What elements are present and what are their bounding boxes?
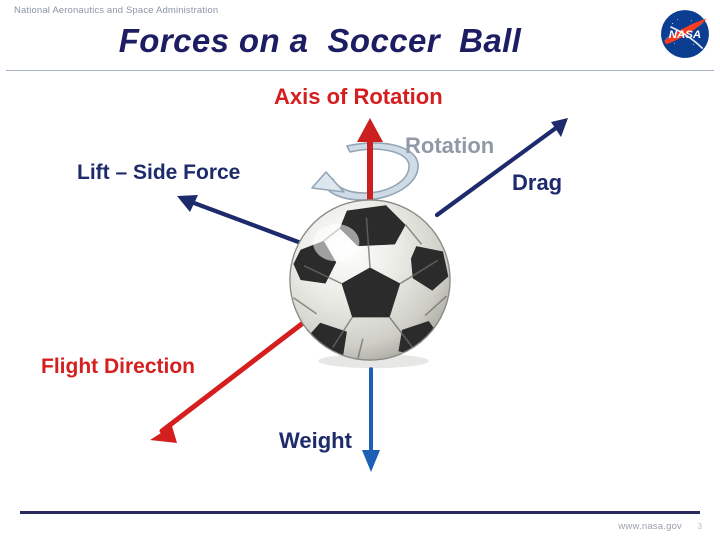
label-weight: Weight [279,430,352,452]
slide-canvas: National Aeronautics and Space Administr… [0,0,720,539]
footer-url[interactable]: www.nasa.gov [618,521,682,532]
header-divider [6,70,714,71]
label-flight-direction: Flight Direction [41,356,195,377]
weight-arrow [362,369,380,472]
forces-diagram: Axis of Rotation Rotation Lift – Side Fo… [0,72,720,484]
label-axis-of-rotation: Axis of Rotation [274,86,443,108]
footer-divider [20,511,700,514]
label-drag: Drag [512,172,562,194]
nasa-meatball-logo: NASA [659,8,711,60]
nasa-logo-text: NASA [669,29,701,41]
page-title: Forces on a Soccer Ball [0,22,640,60]
axis-of-rotation-arrow [357,118,383,200]
label-lift-side-force: Lift – Side Force [77,162,240,183]
page-number: 3 [698,522,702,531]
agency-name: National Aeronautics and Space Administr… [14,5,218,16]
soccer-ball-image [281,191,459,369]
label-rotation: Rotation [405,135,494,157]
